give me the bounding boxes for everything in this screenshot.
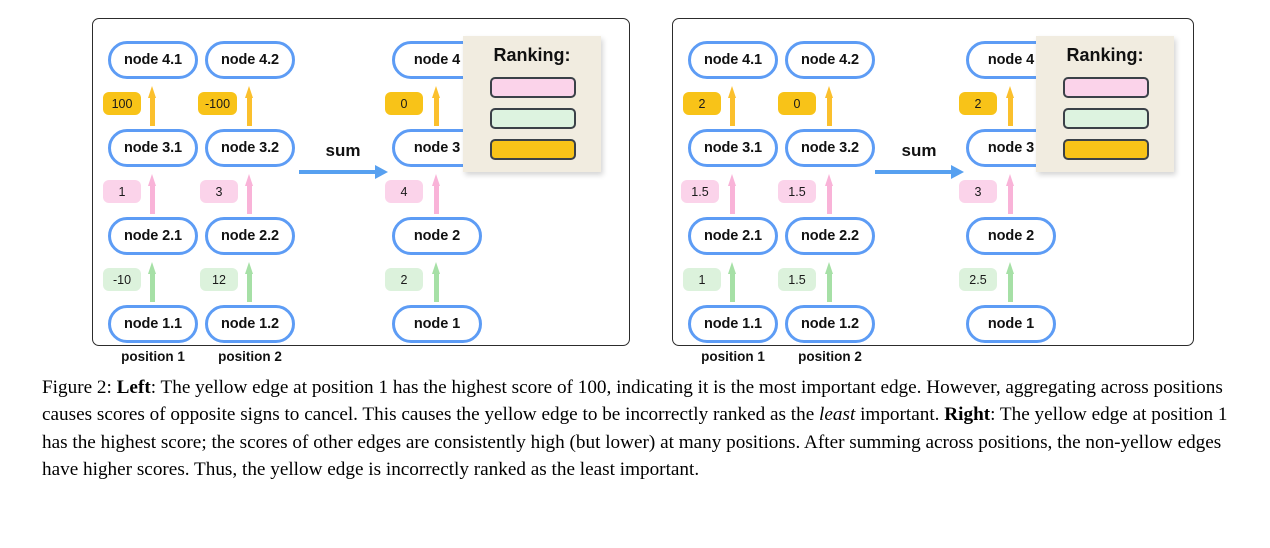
edge-score-badge: 100 bbox=[103, 92, 141, 115]
edge-score-badge: 12 bbox=[200, 268, 238, 291]
figure-caption: Figure 2: Left: The yellow edge at posit… bbox=[42, 374, 1232, 484]
node-box: node 1.2 bbox=[785, 305, 875, 343]
node-box: node 2.2 bbox=[785, 217, 875, 255]
node-box: node 1.2 bbox=[205, 305, 295, 343]
position-label: position 1 bbox=[681, 349, 785, 364]
sum-arrow-shaft bbox=[875, 170, 953, 174]
caption-left-bold: Left bbox=[117, 377, 151, 398]
ranking-title: Ranking: bbox=[1036, 45, 1174, 66]
node-box: node 4.1 bbox=[688, 41, 778, 79]
edge-arrow-green bbox=[825, 262, 834, 302]
node-box: node 2.1 bbox=[108, 217, 198, 255]
edge-arrow-pink bbox=[245, 174, 254, 214]
ranking-bar-pink bbox=[490, 77, 576, 98]
node-box: node 4.2 bbox=[205, 41, 295, 79]
node-box: node 1.1 bbox=[108, 305, 198, 343]
edge-arrow-green bbox=[148, 262, 157, 302]
node-box: node 2.2 bbox=[205, 217, 295, 255]
caption-figure-label: Figure 2: bbox=[42, 377, 112, 398]
caption-emphasis: least bbox=[819, 404, 855, 425]
node-box: node 3.1 bbox=[108, 129, 198, 167]
caption-right-bold: Right bbox=[944, 404, 990, 425]
ranking-card: Ranking: bbox=[1036, 36, 1174, 172]
ranking-bar-pink bbox=[1063, 77, 1149, 98]
edge-score-badge: 4 bbox=[385, 180, 423, 203]
caption-part2: important. bbox=[855, 404, 944, 425]
figure-panel-left: node 4.1 100 node 3.1 1 node 2.1 -10 nod… bbox=[92, 18, 630, 346]
edge-score-badge: 2 bbox=[959, 92, 997, 115]
ranking-title: Ranking: bbox=[463, 45, 601, 66]
node-box: node 3.2 bbox=[785, 129, 875, 167]
edge-arrow-yellow bbox=[728, 86, 737, 126]
edge-arrow-green bbox=[1006, 262, 1015, 302]
position-label: position 2 bbox=[198, 349, 302, 364]
edge-score-badge: 0 bbox=[385, 92, 423, 115]
edge-arrow-pink bbox=[432, 174, 441, 214]
ranking-bar-green bbox=[1063, 108, 1149, 129]
ranking-card: Ranking: bbox=[463, 36, 601, 172]
edge-score-badge: -100 bbox=[198, 92, 237, 115]
position-label: position 1 bbox=[101, 349, 205, 364]
node-box: node 1.1 bbox=[688, 305, 778, 343]
edge-arrow-yellow bbox=[1006, 86, 1015, 126]
edge-score-badge: 1 bbox=[103, 180, 141, 203]
position-label: position 2 bbox=[778, 349, 882, 364]
edge-arrow-pink bbox=[728, 174, 737, 214]
ranking-bar-yellow bbox=[1063, 139, 1149, 160]
node-box: node 2 bbox=[392, 217, 482, 255]
ranking-bar-green bbox=[490, 108, 576, 129]
edge-arrow-green bbox=[432, 262, 441, 302]
edge-score-badge: 1 bbox=[683, 268, 721, 291]
edge-score-badge: -10 bbox=[103, 268, 141, 291]
node-box: node 4.2 bbox=[785, 41, 875, 79]
sum-arrow-head bbox=[951, 165, 964, 179]
sum-arrow-group: sum bbox=[297, 141, 389, 186]
edge-arrow-yellow bbox=[432, 86, 441, 126]
edge-score-badge: 2 bbox=[385, 268, 423, 291]
edge-score-badge: 1.5 bbox=[778, 180, 816, 203]
edge-arrow-green bbox=[728, 262, 737, 302]
edge-score-badge: 3 bbox=[200, 180, 238, 203]
node-box: node 4.1 bbox=[108, 41, 198, 79]
edge-score-badge: 1.5 bbox=[681, 180, 719, 203]
edge-arrow-green bbox=[245, 262, 254, 302]
edge-score-badge: 2 bbox=[683, 92, 721, 115]
edge-arrow-yellow bbox=[825, 86, 834, 126]
sum-arrow-head bbox=[375, 165, 388, 179]
sum-arrow-shaft bbox=[299, 170, 377, 174]
edge-arrow-pink bbox=[148, 174, 157, 214]
node-box: node 3.1 bbox=[688, 129, 778, 167]
node-box: node 1 bbox=[966, 305, 1056, 343]
node-box: node 3.2 bbox=[205, 129, 295, 167]
figure-panel-right: node 4.1 2 node 3.1 1.5 node 2.1 1 node … bbox=[672, 18, 1194, 346]
sum-label: sum bbox=[873, 141, 965, 161]
ranking-bar-yellow bbox=[490, 139, 576, 160]
edge-score-badge: 2.5 bbox=[959, 268, 997, 291]
figure-area: node 4.1 100 node 3.1 1 node 2.1 -10 nod… bbox=[0, 0, 1270, 362]
node-box: node 2.1 bbox=[688, 217, 778, 255]
edge-score-badge: 0 bbox=[778, 92, 816, 115]
node-box: node 2 bbox=[966, 217, 1056, 255]
sum-label: sum bbox=[297, 141, 389, 161]
sum-arrow-group: sum bbox=[873, 141, 965, 186]
edge-score-badge: 3 bbox=[959, 180, 997, 203]
edge-score-badge: 1.5 bbox=[778, 268, 816, 291]
edge-arrow-pink bbox=[1006, 174, 1015, 214]
edge-arrow-pink bbox=[825, 174, 834, 214]
edge-arrow-yellow bbox=[245, 86, 254, 126]
node-box: node 1 bbox=[392, 305, 482, 343]
edge-arrow-yellow bbox=[148, 86, 157, 126]
